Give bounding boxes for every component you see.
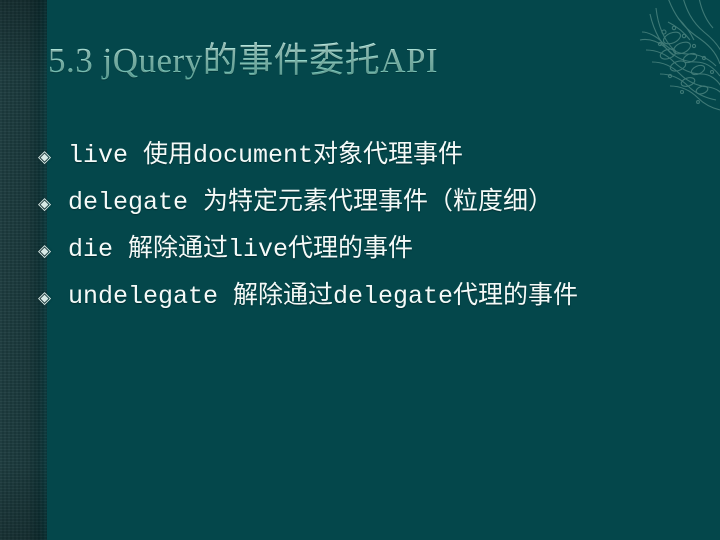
list-item: ◈ delegate 为特定元素代理事件（粒度细） xyxy=(38,179,710,226)
slide-canvas: 5.3 jQuery的事件委托API ◈ live 使用document对象代理… xyxy=(0,0,720,540)
page-title: 5.3 jQuery的事件委托API xyxy=(48,38,688,84)
list-item-label: die 解除通过live代理的事件 xyxy=(68,226,710,273)
diamond-bullet-icon: ◈ xyxy=(38,274,68,321)
list-item: ◈ undelegate 解除通过delegate代理的事件 xyxy=(38,273,710,320)
list-item: ◈ live 使用document对象代理事件 xyxy=(38,132,710,179)
bullet-list: ◈ live 使用document对象代理事件 ◈ delegate 为特定元素… xyxy=(38,132,710,320)
diamond-bullet-icon: ◈ xyxy=(38,133,68,180)
list-item-label: undelegate 解除通过delegate代理的事件 xyxy=(68,273,710,320)
diamond-bullet-icon: ◈ xyxy=(38,180,68,227)
list-item-label: live 使用document对象代理事件 xyxy=(68,132,710,179)
diamond-bullet-icon: ◈ xyxy=(38,227,68,274)
list-item: ◈ die 解除通过live代理的事件 xyxy=(38,226,710,273)
list-item-label: delegate 为特定元素代理事件（粒度细） xyxy=(68,179,710,226)
